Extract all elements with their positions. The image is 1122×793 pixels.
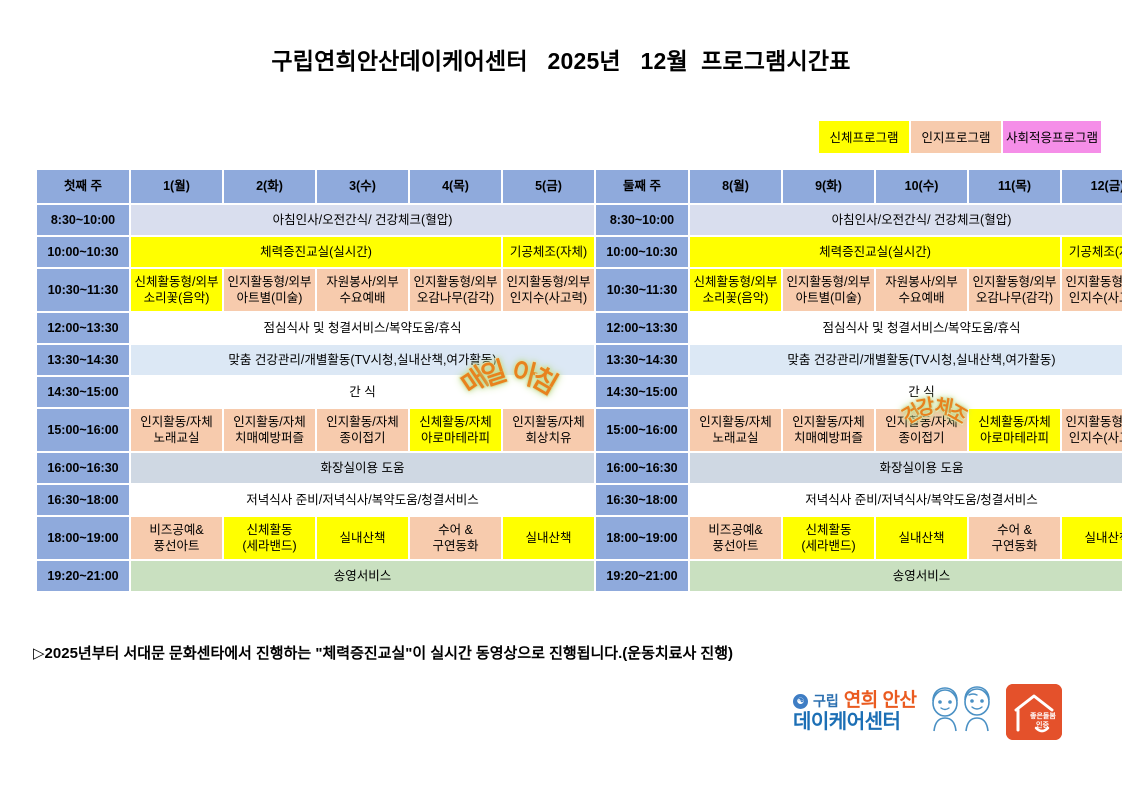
activity-type: 인지활동형/외부 xyxy=(505,274,592,291)
schedule-table: 첫째 주 1(월) 2(화) 3(수) 4(목) 5(금) 둘째 주 8(월) … xyxy=(35,168,1122,593)
week1-day-3: 3(수) xyxy=(317,170,408,203)
activity-line1: 신체활동 xyxy=(226,522,313,539)
w1-morning-wed: 자원봉사/외부 수요예배 xyxy=(317,269,408,311)
w2-fitness-class: 체력증진교실(실시간) xyxy=(690,237,1060,267)
activity-line2: 풍선아트 xyxy=(692,538,779,555)
activity-name: 아트별(미술) xyxy=(226,290,313,307)
table-row-1600: 16:00~16:30 화장실이용 도움 16:00~16:30 화장실이용 도… xyxy=(37,453,1122,483)
w2-qigong: 기공체조(자체) xyxy=(1062,237,1122,267)
w1-afternoon-thu: 신체활동/자체 아로마테라피 xyxy=(410,409,501,451)
activity-type: 인지활동/자체 xyxy=(692,414,779,431)
activity-line1: 비즈공예& xyxy=(133,522,220,539)
activity-type: 자원봉사/외부 xyxy=(319,274,406,291)
w2-morning-wed: 자원봉사/외부 수요예배 xyxy=(876,269,967,311)
activity-name: 오감나무(감각) xyxy=(412,290,499,307)
time-label-1500-w2: 15:00~16:00 xyxy=(596,409,688,451)
table-row-1920: 19:20~21:00 송영서비스 19:20~21:00 송영서비스 xyxy=(37,561,1122,591)
week1-header: 첫째 주 xyxy=(37,170,129,203)
activity-name: 수요예배 xyxy=(319,290,406,307)
activity-line1: 수어 & xyxy=(971,522,1058,539)
w1-morning-tue: 인지활동형/외부 아트별(미술) xyxy=(224,269,315,311)
time-label-1030-w1: 10:30~11:30 xyxy=(37,269,129,311)
activity-name: 수요예배 xyxy=(878,290,965,307)
activity-type: 자원봉사/외부 xyxy=(878,274,965,291)
activity-name: 종이접기 xyxy=(319,430,406,447)
w1-afternoon-wed: 인지활동/자체 종이접기 xyxy=(317,409,408,451)
activity-type: 인지활동형/외부 xyxy=(412,274,499,291)
time-label-1200-w1: 12:00~13:30 xyxy=(37,313,129,343)
w1-afternoon-fri: 인지활동/자체 회상치유 xyxy=(503,409,594,451)
table-header-row: 첫째 주 1(월) 2(화) 3(수) 4(목) 5(금) 둘째 주 8(월) … xyxy=(37,170,1122,203)
activity-name: 노래교실 xyxy=(692,430,779,447)
w1-morning-mon: 신체활동형/외부 소리꽃(음악) xyxy=(131,269,222,311)
time-label-1430-w1: 14:30~15:00 xyxy=(37,377,129,407)
activity-type: 인지활동형/외부 xyxy=(1064,274,1122,291)
program-type-legend: 신체프로그램 인지프로그램 사회적응프로그램 xyxy=(818,120,1102,154)
w2-evening-wed: 실내산책 xyxy=(876,517,967,559)
w1-morning-thu: 인지활동형/외부 오감나무(감각) xyxy=(410,269,501,311)
w2-evening-tue: 신체활동 (세라밴드) xyxy=(783,517,874,559)
activity-type: 인지활동형/외부 xyxy=(1064,414,1122,431)
time-label-1030-w2: 10:30~11:30 xyxy=(596,269,688,311)
activity-name: 아로마테라피 xyxy=(971,430,1058,447)
activity-name: 노래교실 xyxy=(133,430,220,447)
activity-line2: (세라밴드) xyxy=(785,538,872,555)
time-label-0830-w2: 8:30~10:00 xyxy=(596,205,688,235)
table-row-1200: 12:00~13:30 점심식사 및 청결서비스/복약도움/휴식 12:00~1… xyxy=(37,313,1122,343)
footer-note: ▷2025년부터 서대문 문화센타에서 진행하는 "체력증진교실"이 실시간 동… xyxy=(33,642,733,663)
activity-name: 인지수(사고력) xyxy=(1064,430,1122,447)
activity-name: 치매예방퍼즐 xyxy=(226,430,313,447)
time-label-1430-w2: 14:30~15:00 xyxy=(596,377,688,407)
w1-fitness-class: 체력증진교실(실시간) xyxy=(131,237,501,267)
activity-name: 인지수(사고력) xyxy=(505,290,592,307)
logo-mark-icon: ☯ xyxy=(793,694,808,709)
svg-text:좋은돌봄: 좋은돌봄 xyxy=(1030,711,1056,720)
w2-morning-tue: 인지활동형/외부 아트별(미술) xyxy=(783,269,874,311)
w2-afternoon-wed: 인지활동/자체 종이접기 xyxy=(876,409,967,451)
table-row-1330: 13:30~14:30 맞춤 건강관리/개별활동(TV시청,실내산책,여가활동)… xyxy=(37,345,1122,375)
schedule-page: 구립연희안산데이케어센터 2025년 12월 프로그램시간표 신체프로그램 인지… xyxy=(0,0,1122,793)
w1-dinner: 저녁식사 준비/저녁식사/복약도움/청결서비스 xyxy=(131,485,594,515)
activity-type: 신체활동형/외부 xyxy=(692,274,779,291)
w1-snack: 간 식 xyxy=(131,377,594,407)
w2-restroom: 화장실이용 도움 xyxy=(690,453,1122,483)
time-label-1000-w1: 10:00~10:30 xyxy=(37,237,129,267)
logo-text: ☯ 구립 연희 안산 데이케어센터 xyxy=(793,691,916,733)
w1-evening-wed: 실내산책 xyxy=(317,517,408,559)
w2-afternoon-tue: 인지활동/자체 치매예방퍼즐 xyxy=(783,409,874,451)
w2-afternoon-fri: 인지활동형/외부 인지수(사고력) xyxy=(1062,409,1122,451)
w2-evening-fri: 실내산책 xyxy=(1062,517,1122,559)
table-row-1630: 16:30~18:00 저녁식사 준비/저녁식사/복약도움/청결서비스 16:3… xyxy=(37,485,1122,515)
time-label-1630-w1: 16:30~18:00 xyxy=(37,485,129,515)
activity-type: 인지활동/자체 xyxy=(319,414,406,431)
activity-line1: 비즈공예& xyxy=(692,522,779,539)
w2-morning-fri: 인지활동형/외부 인지수(사고력) xyxy=(1062,269,1122,311)
activity-name: 소리꽃(음악) xyxy=(133,290,220,307)
week1-day-5: 5(금) xyxy=(503,170,594,203)
activity-name: 오감나무(감각) xyxy=(971,290,1058,307)
elderly-couple-icon xyxy=(922,684,1000,740)
activity-name: 종이접기 xyxy=(878,430,965,447)
table-row-1030: 10:30~11:30 신체활동형/외부 소리꽃(음악) 인지활동형/외부 아트… xyxy=(37,269,1122,311)
activity-type: 인지활동/자체 xyxy=(226,414,313,431)
legend-item-cognitive: 인지프로그램 xyxy=(910,120,1002,154)
activity-name: 아트별(미술) xyxy=(785,290,872,307)
activity-type: 신체활동/자체 xyxy=(412,414,499,431)
week2-day-2: 9(화) xyxy=(783,170,874,203)
legend-item-physical: 신체프로그램 xyxy=(818,120,910,154)
logo-line-1: ☯ 구립 연희 안산 xyxy=(793,691,916,711)
time-label-1330-w1: 13:30~14:30 xyxy=(37,345,129,375)
table-row-1000: 10:00~10:30 체력증진교실(실시간) 기공체조(자체) 10:00~1… xyxy=(37,237,1122,267)
w1-health-care: 맞춤 건강관리/개별활동(TV시청,실내산책,여가활동) xyxy=(131,345,594,375)
week2-day-1: 8(월) xyxy=(690,170,781,203)
week1-day-2: 2(화) xyxy=(224,170,315,203)
w2-evening-thu: 수어 & 구연동화 xyxy=(969,517,1060,559)
activity-line2: 구연동화 xyxy=(412,538,499,555)
time-label-1600-w1: 16:00~16:30 xyxy=(37,453,129,483)
activity-type: 신체활동/자체 xyxy=(971,414,1058,431)
activity-name: 회상치유 xyxy=(505,430,592,447)
activity-type: 인지활동/자체 xyxy=(878,414,965,431)
time-label-1630-w2: 16:30~18:00 xyxy=(596,485,688,515)
w2-snack: 간 식 xyxy=(690,377,1122,407)
activity-type: 인지활동형/외부 xyxy=(785,274,872,291)
w2-evening-mon: 비즈공예& 풍선아트 xyxy=(690,517,781,559)
w1-evening-thu: 수어 & 구연동화 xyxy=(410,517,501,559)
activity-line2: 풍선아트 xyxy=(133,538,220,555)
logo-name: 연희 안산 xyxy=(844,691,917,711)
w2-lunch: 점심식사 및 청결서비스/복약도움/휴식 xyxy=(690,313,1122,343)
activity-type: 인지활동/자체 xyxy=(133,414,220,431)
w1-lunch: 점심식사 및 청결서비스/복약도움/휴식 xyxy=(131,313,594,343)
time-label-0830-w1: 8:30~10:00 xyxy=(37,205,129,235)
activity-type: 인지활동형/외부 xyxy=(226,274,313,291)
w2-morning-greeting: 아침인사/오전간식/ 건강체크(혈압) xyxy=(690,205,1122,235)
activity-type: 신체활동형/외부 xyxy=(133,274,220,291)
w1-afternoon-tue: 인지활동/자체 치매예방퍼즐 xyxy=(224,409,315,451)
time-label-1200-w2: 12:00~13:30 xyxy=(596,313,688,343)
w2-transport: 송영서비스 xyxy=(690,561,1122,591)
w1-afternoon-mon: 인지활동/자체 노래교실 xyxy=(131,409,222,451)
w2-morning-thu: 인지활동형/외부 오감나무(감각) xyxy=(969,269,1060,311)
time-label-1800-w2: 18:00~19:00 xyxy=(596,517,688,559)
w2-health-care: 맞춤 건강관리/개별활동(TV시청,실내산책,여가활동) xyxy=(690,345,1122,375)
activity-type: 인지활동/자체 xyxy=(785,414,872,431)
page-title: 구립연희안산데이케어센터 2025년 12월 프로그램시간표 xyxy=(0,42,1122,76)
time-label-1500-w1: 15:00~16:00 xyxy=(37,409,129,451)
w2-afternoon-mon: 인지활동/자체 노래교실 xyxy=(690,409,781,451)
week2-day-3: 10(수) xyxy=(876,170,967,203)
week2-day-4: 11(목) xyxy=(969,170,1060,203)
legend-item-social: 사회적응프로그램 xyxy=(1002,120,1102,154)
table-row-0830: 8:30~10:00 아침인사/오전간식/ 건강체크(혈압) 8:30~10:0… xyxy=(37,205,1122,235)
w1-restroom: 화장실이용 도움 xyxy=(131,453,594,483)
week1-day-1: 1(월) xyxy=(131,170,222,203)
activity-name: 치매예방퍼즐 xyxy=(785,430,872,447)
w1-evening-tue: 신체활동 (세라밴드) xyxy=(224,517,315,559)
table-row-1430: 14:30~15:00 간 식 14:30~15:00 간 식 xyxy=(37,377,1122,407)
activity-name: 인지수(사고력) xyxy=(1064,290,1122,307)
week2-day-5: 12(금) xyxy=(1062,170,1122,203)
activity-name: 소리꽃(음악) xyxy=(692,290,779,307)
time-label-1600-w2: 16:00~16:30 xyxy=(596,453,688,483)
time-label-1800-w1: 18:00~19:00 xyxy=(37,517,129,559)
w1-evening-mon: 비즈공예& 풍선아트 xyxy=(131,517,222,559)
logo-prefix: 구립 xyxy=(813,694,839,709)
svg-text:인증: 인증 xyxy=(1036,720,1049,729)
w1-morning-greeting: 아침인사/오전간식/ 건강체크(혈압) xyxy=(131,205,594,235)
activity-line1: 수어 & xyxy=(412,522,499,539)
w1-evening-fri: 실내산책 xyxy=(503,517,594,559)
activity-line1: 신체활동 xyxy=(785,522,872,539)
w2-dinner: 저녁식사 준비/저녁식사/복약도움/청결서비스 xyxy=(690,485,1122,515)
time-label-1330-w2: 13:30~14:30 xyxy=(596,345,688,375)
week1-day-4: 4(목) xyxy=(410,170,501,203)
week2-header: 둘째 주 xyxy=(596,170,688,203)
time-label-1920-w1: 19:20~21:00 xyxy=(37,561,129,591)
table-row-1500: 15:00~16:00 인지활동/자체 노래교실 인지활동/자체 치매예방퍼즐 … xyxy=(37,409,1122,451)
table-row-1800: 18:00~19:00 비즈공예& 풍선아트 신체활동 (세라밴드) 실내산책 … xyxy=(37,517,1122,559)
logo-line-2: 데이케어센터 xyxy=(793,712,916,733)
w2-afternoon-thu: 신체활동/자체 아로마테라피 xyxy=(969,409,1060,451)
w1-morning-fri: 인지활동형/외부 인지수(사고력) xyxy=(503,269,594,311)
time-label-1000-w2: 10:00~10:30 xyxy=(596,237,688,267)
house-badge-icon: 좋은돌봄 인증 xyxy=(1006,684,1062,740)
activity-type: 인지활동형/외부 xyxy=(971,274,1058,291)
w1-transport: 송영서비스 xyxy=(131,561,594,591)
w2-morning-mon: 신체활동형/외부 소리꽃(음악) xyxy=(690,269,781,311)
activity-line2: (세라밴드) xyxy=(226,538,313,555)
activity-name: 아로마테라피 xyxy=(412,430,499,447)
activity-line2: 구연동화 xyxy=(971,538,1058,555)
center-logo: ☯ 구립 연희 안산 데이케어센터 xyxy=(793,684,1062,740)
activity-type: 인지활동/자체 xyxy=(505,414,592,431)
w1-qigong: 기공체조(자체) xyxy=(503,237,594,267)
time-label-1920-w2: 19:20~21:00 xyxy=(596,561,688,591)
